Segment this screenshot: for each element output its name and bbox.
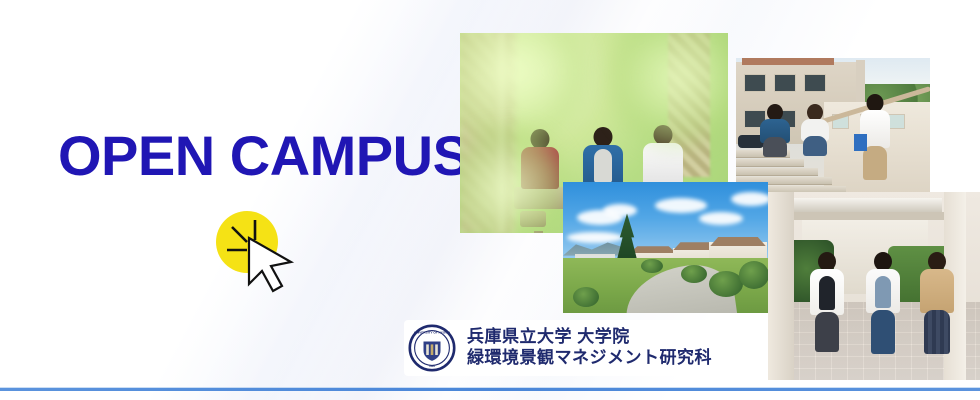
photo-corridor <box>768 192 980 380</box>
svg-text:1929: 1929 <box>429 364 435 368</box>
page-title: OPEN CAMPUS <box>58 128 469 184</box>
university-logo-lockup: UNIVERSITY OF HYOGO 1929 兵庫県立大学 大学院 緑環境景… <box>404 320 722 376</box>
bottom-rule <box>0 388 980 391</box>
university-of-hyogo-seal-icon: UNIVERSITY OF HYOGO 1929 <box>408 324 456 372</box>
cursor-click-icon <box>205 200 310 300</box>
logo-line-2: 緑環境景観マネジメント研究科 <box>467 348 712 369</box>
photo-campus <box>563 182 768 313</box>
photo-students-stairs <box>736 58 930 194</box>
open-campus-banner: OPEN CAMPUS <box>0 0 980 400</box>
svg-text:UNIVERSITY OF HYOGO: UNIVERSITY OF HYOGO <box>414 330 451 334</box>
logo-line-1: 兵庫県立大学 大学院 <box>467 327 712 348</box>
